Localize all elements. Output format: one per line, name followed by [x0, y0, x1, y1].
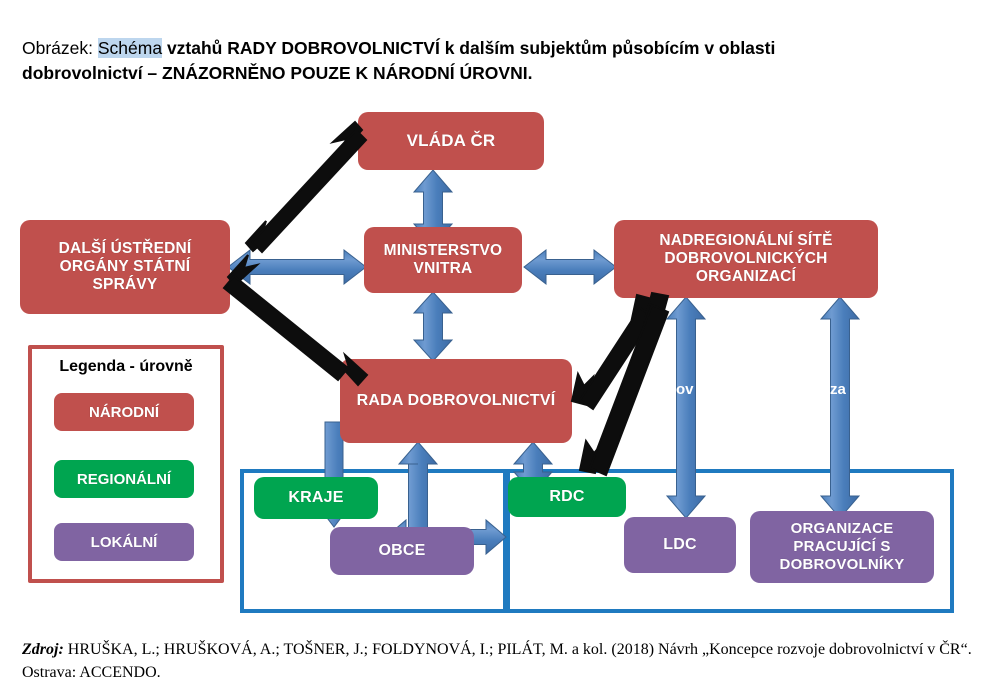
caption-line2: dobrovolnictví – ZNÁZORNĚNO POUZE K NÁRO… [22, 63, 532, 83]
black-arrow-layer [0, 100, 992, 625]
source-citation: Zdroj: HRUŠKA, L.; HRUŠKOVÁ, A.; TOŠNER,… [22, 638, 972, 684]
arrow-dalsi-rada [224, 255, 367, 385]
source-label: Zdroj: [22, 641, 64, 658]
caption-line1: vztahů RADY DOBROVOLNICTVÍ k dalším subj… [162, 38, 775, 58]
source-text: HRUŠKA, L.; HRUŠKOVÁ, A.; TOŠNER, J.; FO… [22, 641, 972, 681]
arrow-vlada-dalsi [246, 122, 366, 252]
figure-caption: Obrázek: Schéma vztahů RADY DOBROVOLNICT… [22, 36, 967, 86]
caption-prefix: Obrázek: [22, 38, 98, 58]
caption-highlight: Schéma [98, 38, 162, 58]
diagram-canvas: ov za [0, 100, 992, 625]
